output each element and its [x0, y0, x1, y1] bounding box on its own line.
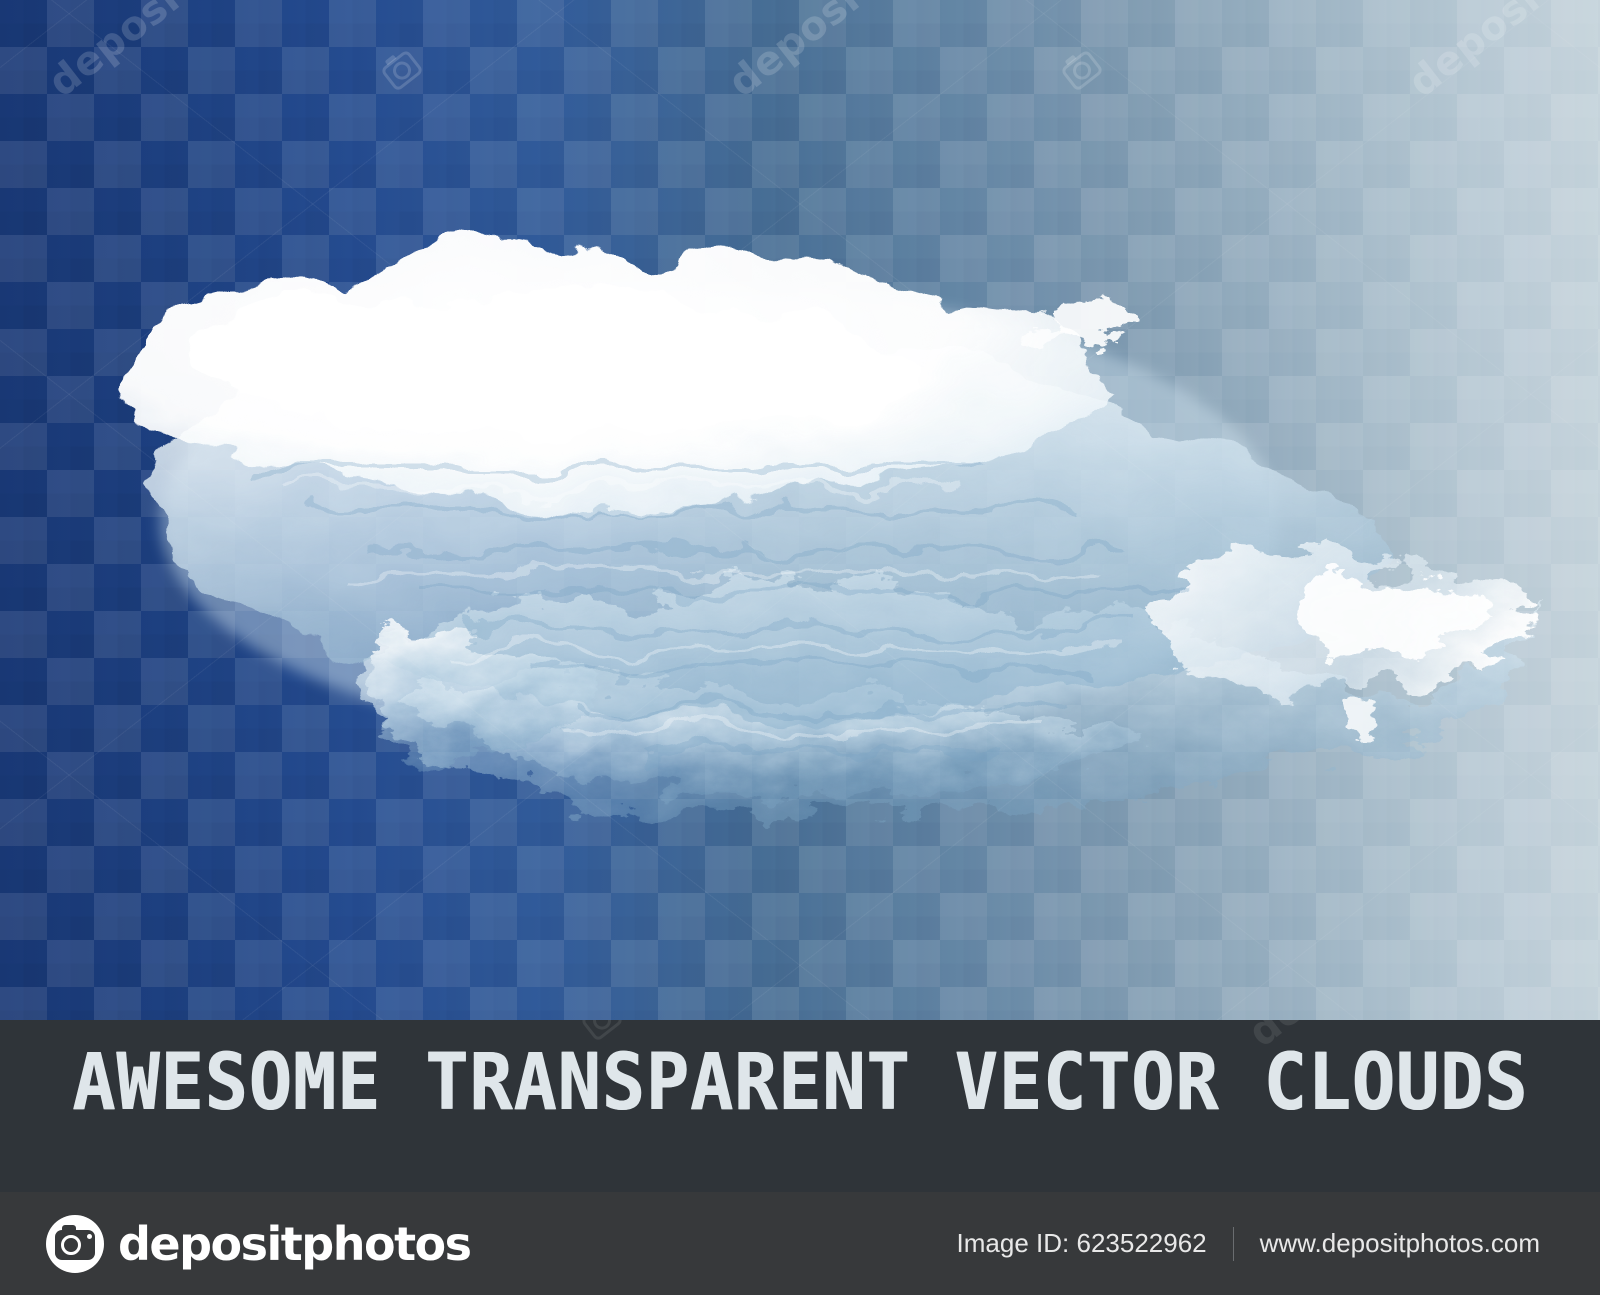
- footer-meta: Image ID: 623522962 www.depositphotos.co…: [957, 1227, 1540, 1261]
- cloud-svg: [0, 0, 1600, 1020]
- camera-icon: [46, 1215, 104, 1273]
- depositphotos-logo[interactable]: depositphotos: [46, 1215, 471, 1273]
- footer-bar: depositphotos Image ID: 623522962 www.de…: [0, 1192, 1600, 1295]
- artwork-canvas: depositphotos depositphotos depositphoto…: [0, 0, 1600, 1020]
- headline-title: AWESOME TRANSPARENT VECTOR CLOUDS: [64, 1044, 1536, 1122]
- image-id-label: Image ID: 623522962: [957, 1228, 1207, 1259]
- meta-separator: [1233, 1227, 1234, 1261]
- stock-photo-preview: depositphotos depositphotos depositphoto…: [0, 0, 1600, 1295]
- cloud-illustration: [0, 0, 1600, 1020]
- website-link[interactable]: www.depositphotos.com: [1260, 1228, 1540, 1259]
- logo-wordmark: depositphotos: [118, 1217, 471, 1271]
- caption-band: AWESOME TRANSPARENT VECTOR CLOUDS deposi…: [0, 1020, 1600, 1192]
